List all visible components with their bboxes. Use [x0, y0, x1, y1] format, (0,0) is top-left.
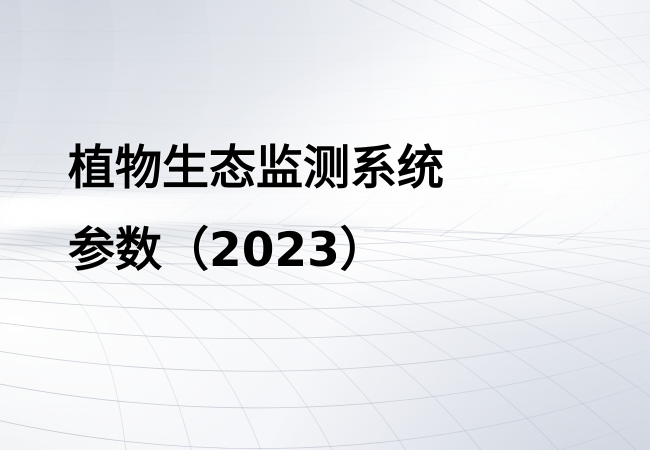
slide-title-line-2: 参数（2023）	[68, 210, 588, 292]
presentation-title-slide: 植物生态监测系统 参数（2023）	[0, 0, 650, 450]
slide-title: 植物生态监测系统 参数（2023）	[68, 128, 588, 292]
slide-title-line-1: 植物生态监测系统	[68, 128, 588, 210]
